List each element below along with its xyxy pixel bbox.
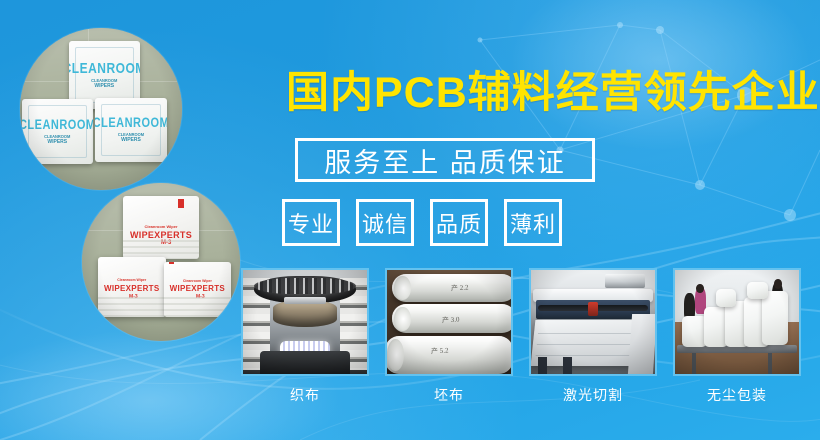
feature-tag-quality[interactable]: 品质 xyxy=(430,199,488,246)
product-photo-cleanroom-wipes: CLEANROOM CLEANROOM WIPERS CLEANROOM CLE… xyxy=(20,28,182,190)
feature-tag-low-margin[interactable]: 薄利 xyxy=(504,199,562,246)
process-caption: 无尘包装 xyxy=(673,385,801,405)
feature-tag-integrity[interactable]: 诚信 xyxy=(356,199,414,246)
promo-banner: CLEANROOM CLEANROOM WIPERS CLEANROOM CLE… xyxy=(0,0,820,440)
process-photo-cleanroom-packaging xyxy=(673,268,801,376)
process-caption: 织布 xyxy=(241,385,369,405)
banner-subtitle: 服务至上 品质保证 xyxy=(324,141,566,180)
process-photo-laser-cutting xyxy=(529,268,657,376)
process-item-cleanroom-packaging[interactable]: 无尘包装 xyxy=(673,268,801,405)
process-photo-strip: 织布 产 2.2 产 3.0 产 5.2 坯布 xyxy=(241,268,801,405)
feature-tag-list: 专业 诚信 品质 薄利 xyxy=(282,199,562,246)
process-item-weaving[interactable]: 织布 xyxy=(241,268,369,405)
process-item-greige-fabric[interactable]: 产 2.2 产 3.0 产 5.2 坯布 xyxy=(385,268,513,405)
banner-headline: 国内PCB辅料经营领先企业 xyxy=(286,72,820,115)
process-caption: 激光切割 xyxy=(529,385,657,405)
process-photo-weaving xyxy=(241,268,369,376)
banner-subtitle-box: 服务至上 品质保证 xyxy=(295,138,595,182)
process-item-laser-cutting[interactable]: 激光切割 xyxy=(529,268,657,405)
product-photo-wipexperts-packs: Cleanroom Wiper WIPEXPERTS M-3 Cleanroom… xyxy=(82,183,240,341)
feature-tag-professional[interactable]: 专业 xyxy=(282,199,340,246)
process-photo-greige-fabric: 产 2.2 产 3.0 产 5.2 xyxy=(385,268,513,376)
process-caption: 坯布 xyxy=(385,385,513,405)
